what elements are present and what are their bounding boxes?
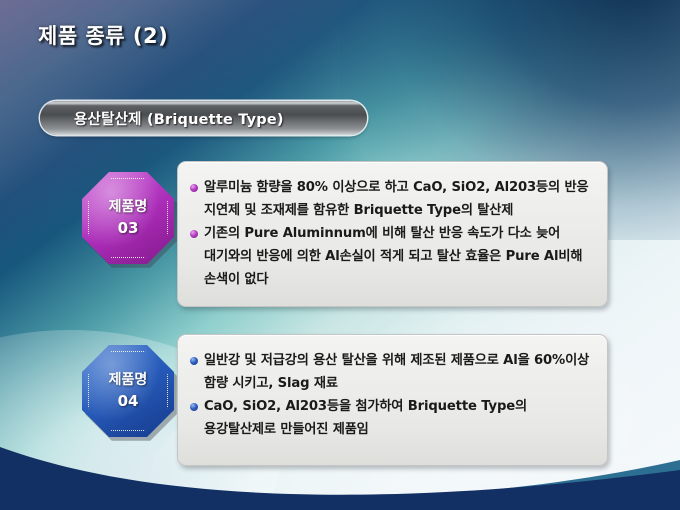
badge-number-04: 04 [118,391,139,411]
content-box-03: 알루미늄 함량을 80% 이상으로 하고 CaO, SiO2, Al203등의 … [177,161,608,307]
product-badge-03: 제품명 03 [82,172,174,264]
list-item: 일반강 및 저급강의 용산 탈산을 위해 제조된 제품으로 Al을 60%이상 … [190,349,595,395]
badge-label-04: 제품명 [109,371,148,389]
list-item: 기존의 Pure Aluminnum에 비해 탈산 반응 속도가 다소 늦어 대… [190,222,595,291]
presentation-slide: 제품 종류 (2) 용산탈산제 (Briquette Type) 제품명 03 … [0,0,680,510]
list-item: CaO, SiO2, Al203등을 첨가하여 Briquette Type의 … [190,395,595,441]
section-header-pill: 용산탈산제 (Briquette Type) [40,101,367,135]
section-header-label: 용산탈산제 (Briquette Type) [74,108,284,129]
page-title: 제품 종류 (2) [38,20,168,50]
bullet-list-03: 알루미늄 함량을 80% 이상으로 하고 CaO, SiO2, Al203등의 … [190,176,595,291]
badge-number-03: 03 [118,218,139,238]
badge-label-03: 제품명 [109,198,148,216]
content-box-04: 일반강 및 저급강의 용산 탈산을 위해 제조된 제품으로 Al을 60%이상 … [177,334,608,466]
list-item: 알루미늄 함량을 80% 이상으로 하고 CaO, SiO2, Al203등의 … [190,176,595,222]
bullet-list-04: 일반강 및 저급강의 용산 탈산을 위해 제조된 제품으로 Al을 60%이상 … [190,349,595,441]
product-badge-04: 제품명 04 [82,345,174,437]
